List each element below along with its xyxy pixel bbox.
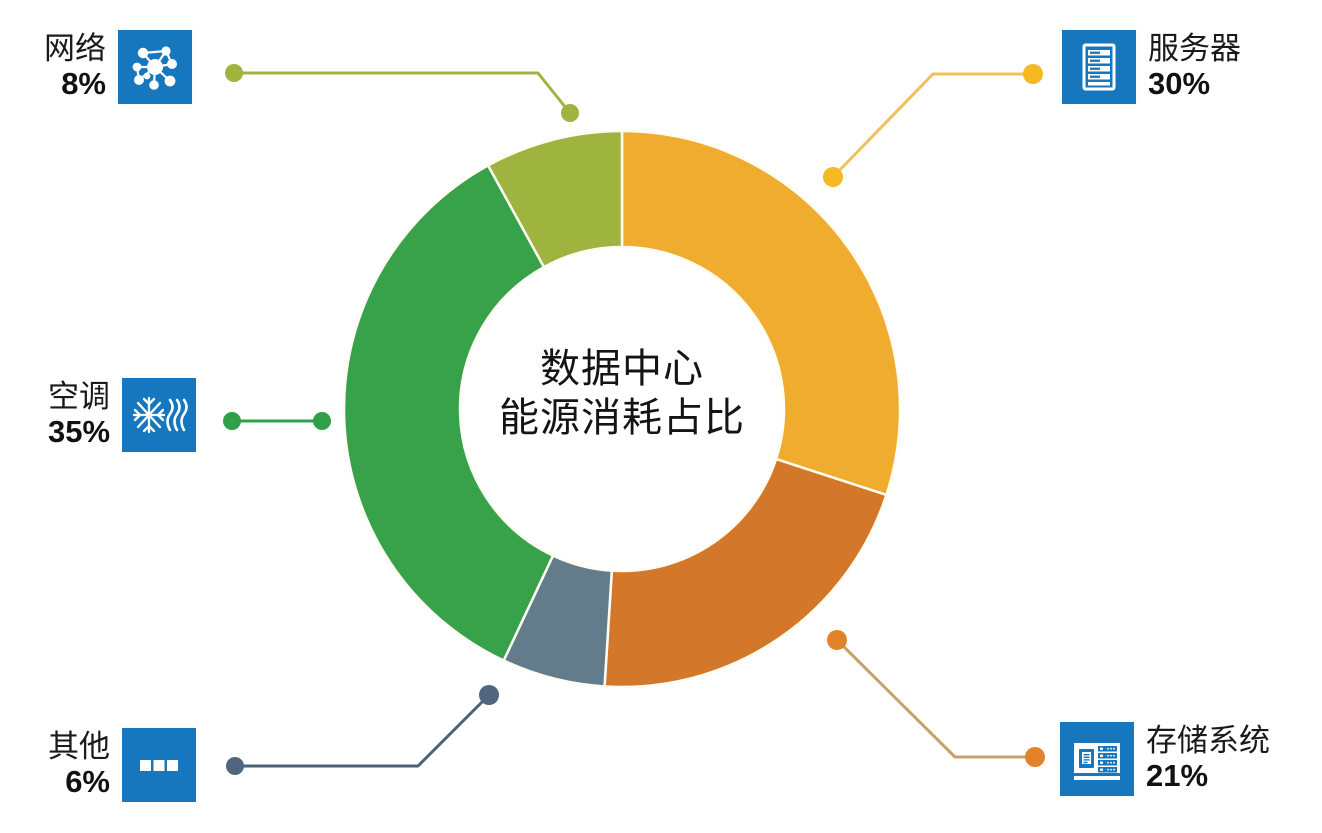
storage-array-icon (1060, 722, 1134, 796)
callout-hvac-text: 空调 35% (48, 380, 110, 449)
snowflake-airflow-icon (122, 378, 196, 452)
server-rack-icon (1062, 30, 1136, 104)
callout-other-label: 其他 (48, 730, 110, 765)
callout-server-label: 服务器 (1148, 32, 1241, 67)
donut-slice-3[interactable]: 空调 35% (344, 165, 553, 660)
leader-dot-network-outer (225, 64, 243, 82)
callout-storage-text: 存储系统 21% (1146, 724, 1270, 793)
leader-line-other (226, 685, 499, 775)
callout-server[interactable]: 服务器 30% (1062, 30, 1241, 104)
callout-storage-label: 存储系统 (1146, 724, 1270, 759)
leader-dot-hvac-inner (313, 412, 331, 430)
leader-line-hvac (223, 412, 331, 430)
callout-server-text: 服务器 30% (1148, 32, 1241, 101)
leader-dot-hvac-outer (223, 412, 241, 430)
callout-storage[interactable]: 存储系统 21% (1060, 722, 1270, 796)
callout-hvac[interactable]: 空调 35% (48, 378, 196, 452)
callout-other-percent: 6% (65, 765, 110, 800)
chart-canvas: 服务器 30%存储系统 21%其他 6%空调 35%网络 8% (0, 0, 1322, 833)
callout-storage-percent: 21% (1146, 759, 1208, 794)
callout-network-percent: 8% (61, 67, 106, 102)
donut-slice-0[interactable]: 服务器 30% (622, 131, 900, 495)
leader-line-storage (827, 630, 1045, 767)
network-nodes-icon (118, 30, 192, 104)
callout-hvac-percent: 35% (48, 415, 110, 450)
callout-server-percent: 30% (1148, 67, 1210, 102)
callout-other-text: 其他 6% (48, 730, 110, 799)
callout-network-text: 网络 8% (44, 32, 106, 101)
ellipsis-icon (122, 728, 196, 802)
callout-hvac-label: 空调 (48, 380, 110, 415)
donut-segments: 服务器 30%存储系统 21%其他 6%空调 35%网络 8% (344, 131, 900, 687)
callout-network[interactable]: 网络 8% (44, 30, 192, 104)
donut-chart-infographic: 服务器 30%存储系统 21%其他 6%空调 35%网络 8% 数据中心 能源消… (0, 0, 1322, 833)
callout-other[interactable]: 其他 6% (48, 728, 196, 802)
leader-dot-other-outer (226, 757, 244, 775)
callout-network-label: 网络 (44, 32, 106, 67)
leader-dot-storage-inner (827, 630, 847, 650)
leader-dot-other-inner (479, 685, 499, 705)
leader-dot-server-outer (1023, 64, 1043, 84)
leader-line-server (823, 64, 1043, 187)
donut-slice-1[interactable]: 存储系统 21% (605, 459, 887, 687)
leader-dot-network-inner (561, 104, 579, 122)
leader-line-network (225, 64, 579, 122)
leader-dot-storage-outer (1025, 747, 1045, 767)
leader-dot-server-inner (823, 167, 843, 187)
